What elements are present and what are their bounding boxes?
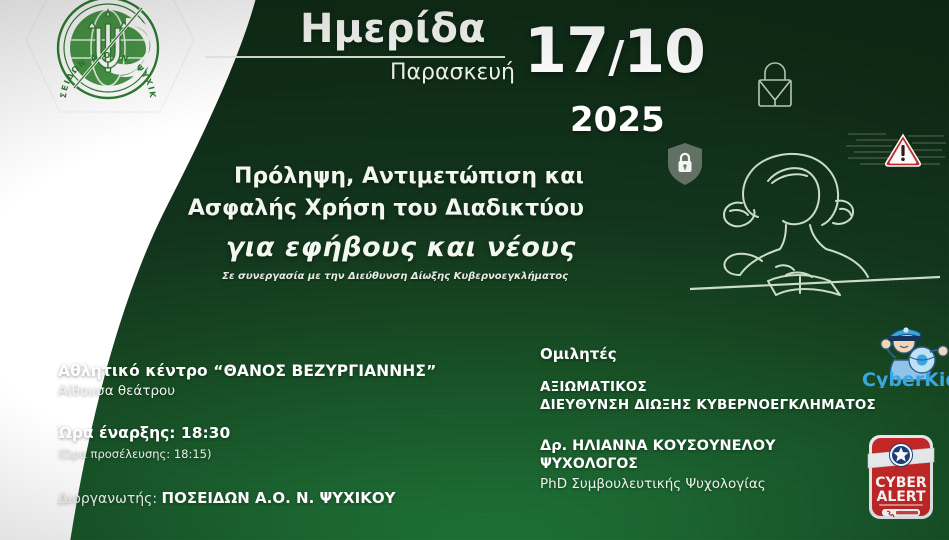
title-line-3: για εφήβους και νέους: [150, 228, 590, 266]
venue-info-column: Αθλητικό κέντρο “ΘΑΝΟΣ ΒΕΖΥΡΓΙΑΝΝΗΣ” Αίθ…: [58, 362, 478, 507]
collaboration-note: Σε συνεργασία με την Διεύθυνση Δίωξης Κυ…: [150, 271, 590, 282]
padlock-outline-icon: [752, 60, 798, 110]
arrival-time: (Ώρα προσέλευσης: 18:15): [58, 447, 478, 461]
club-logo-badge: ΠΟΣΕΙΔΩΝ Α.Ο. Ν. ΨΥΧΙΚΟΥ: [22, 0, 194, 136]
venue-name: Αθλητικό κέντρο “ΘΑΝΟΣ ΒΕΖΥΡΓΙΑΝΝΗΣ”: [58, 362, 478, 380]
speaker-1-org: ΔΙΕΥΘΥΝΣΗ ΔΙΩΞΗΣ ΚΥΒΕΡΝΟΕΓΚΛΗΜΑΤΟΣ: [540, 397, 890, 413]
event-date: 17/10: [524, 20, 705, 82]
title-line-2: Ασφαλής Χρήση του Διαδικτύου: [150, 192, 590, 224]
event-poster: CyberKid CYBER ALERT: [0, 0, 949, 540]
start-time: Ώρα έναρξης: 18:30: [58, 424, 478, 442]
organizer-label: Διοργανωτής:: [58, 491, 157, 507]
main-title-block: Πρόληψη, Αντιμετώπιση και Ασφαλής Χρήση …: [150, 160, 590, 282]
speaker-1-role: ΑΞΙΩΜΑΤΙΚΟΣ: [540, 379, 890, 395]
event-day: 17: [524, 14, 608, 87]
date-slash: /: [608, 32, 623, 83]
organizer-name: ΠΟΣΕΙΔΩΝ Α.Ο. Ν. ΨΥΧΙΚΟΥ: [162, 489, 396, 507]
speaker-2-name: Δρ. ΗΛΙΑΝΝΑ ΚΟΥΣΟΥΝΕΛΟΥ: [540, 438, 890, 454]
weekday-label: Παρασκευή: [390, 60, 515, 85]
speakers-column: Ομιλητές ΑΞΙΩΜΑΤΙΚΟΣ ΔΙΕΥΘΥΝΣΗ ΔΙΩΞΗΣ ΚΥ…: [540, 345, 890, 492]
event-year: 2025: [570, 100, 665, 140]
organizer-line: Διοργανωτής: ΠΟΣΕΙΔΩΝ Α.Ο. Ν. ΨΥΧΙΚΟΥ: [58, 489, 478, 507]
child-reading-line-art: [690, 125, 940, 315]
speaker-2-title: ΨΥΧΟΛΟΓΟΣ: [540, 456, 890, 472]
title-divider-rule: [205, 56, 505, 58]
speakers-heading: Ομιλητές: [540, 345, 890, 363]
page-title: Ημερίδα: [300, 6, 486, 52]
speaker-2-subtitle: PhD Συμβουλευτικής Ψυχολογίας: [540, 476, 890, 492]
venue-hall: Αίθουσα θεάτρου: [58, 383, 478, 399]
title-line-1: Πρόληψη, Αντιμετώπιση και: [184, 160, 590, 192]
event-month: 10: [623, 17, 705, 87]
